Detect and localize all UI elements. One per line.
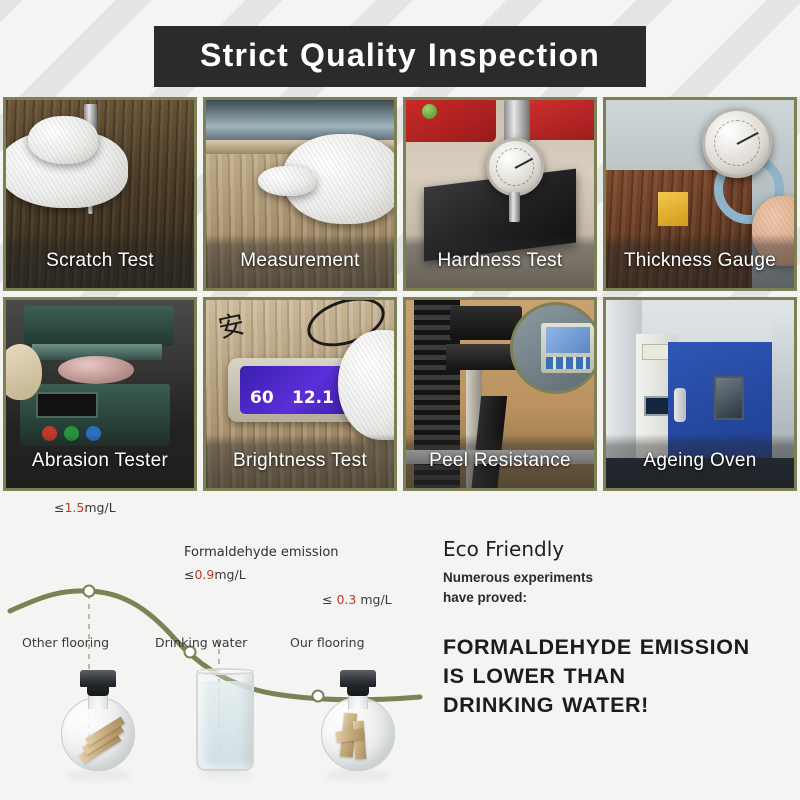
durometer-dial-icon — [486, 138, 544, 196]
headline-2-word-3: THAN — [564, 664, 626, 688]
eco-headline-line-3: DRINKINGWATER! — [443, 691, 793, 720]
abrasion-disc-icon — [58, 356, 134, 384]
eco-headline-line-1: FORMALDEHYDEEMISSION — [443, 633, 793, 662]
vessel-reflection — [66, 769, 130, 784]
data-label-3-value: 0.3 — [336, 592, 356, 607]
eco-headline: FORMALDEHYDEEMISSION ISLOWERTHAN DRINKIN… — [443, 633, 793, 720]
headline-3-word-2: WATER! — [562, 693, 649, 717]
machine-head-icon — [24, 306, 174, 346]
display-icon — [36, 392, 98, 418]
data-label-1: ≤1.5mg/L — [54, 500, 116, 515]
vessel-drinking-water — [186, 671, 266, 771]
data-label-3-prefix: ≤ — [322, 592, 332, 607]
photo-tile-peel-resistance[interactable]: Peel Resistance — [403, 297, 597, 491]
eco-subtitle: Numerous experiments have proved: — [443, 568, 793, 607]
panel-keypad-icon[interactable] — [546, 357, 590, 369]
green-dot-icon — [422, 104, 437, 119]
eco-headline-line-2: ISLOWERTHAN — [443, 662, 793, 691]
vessel-other-flooring — [52, 661, 144, 771]
photo-tile-hardness-test[interactable]: Hardness Test — [403, 97, 597, 291]
page-title: StrictQualityInspection — [154, 26, 646, 87]
inspection-photo-grid: Scratch Test Measurement Hard — [0, 97, 800, 491]
photo-tile-abrasion-tester[interactable]: Abrasion Tester — [3, 297, 197, 491]
photo-tile-thickness-gauge[interactable]: Thickness Gauge — [603, 97, 797, 291]
headline-2-word-2: LOWER — [473, 664, 556, 688]
tile-label-brightness-test: Brightness Test — [206, 434, 394, 488]
data-label-2-prefix: ≤ — [184, 567, 194, 582]
eco-chart-section: ≤1.5mg/L Formaldehyde emission ≤0.9mg/L … — [0, 491, 800, 796]
tile-label-thickness-gauge: Thickness Gauge — [606, 234, 794, 288]
data-label-3-unit: mg/L — [360, 592, 391, 607]
panel-screen-icon — [546, 327, 590, 353]
title-word-1: Strict — [200, 37, 289, 73]
yellow-label-icon — [658, 192, 688, 226]
flask-cap-icon — [340, 670, 376, 687]
category-label-1: Other flooring — [22, 635, 109, 650]
oven-window-icon — [714, 376, 744, 420]
photo-tile-ageing-oven[interactable]: Ageing Oven — [603, 297, 797, 491]
inset-control-panel-photo — [510, 302, 597, 394]
eco-subtitle-line-2: have proved: — [443, 588, 793, 608]
quality-inspection-page: StrictQualityInspection Scratch Test Mea… — [0, 0, 800, 800]
data-label-3: ≤ 0.3 mg/L — [322, 592, 392, 607]
chart-title: Formaldehyde emission — [184, 545, 339, 560]
category-label-2: Drinking water — [155, 635, 247, 650]
category-label-3: Our flooring — [290, 635, 365, 650]
headline-1-word-1: FORMALDEHYDE — [443, 635, 632, 659]
title-word-3: Inspection — [428, 37, 600, 73]
gloved-finger-icon — [258, 166, 316, 196]
red-case-icon — [403, 97, 496, 142]
headline-2-word-1: IS — [443, 664, 465, 688]
tile-label-ageing-oven: Ageing Oven — [606, 434, 794, 488]
data-label-1-prefix: ≤ — [54, 500, 64, 515]
photo-tile-brightness-test[interactable]: 安 60 12.1 Brightness Test — [203, 297, 397, 491]
vessel-reflection — [326, 769, 390, 784]
header: StrictQualityInspection — [0, 0, 800, 97]
meter-value-right: 12.1 — [292, 388, 334, 408]
data-label-2-unit: mg/L — [214, 567, 245, 582]
title-word-2: Quality — [300, 37, 417, 73]
photo-tile-measurement[interactable]: Measurement — [203, 97, 397, 291]
data-label-2-value: 0.9 — [194, 567, 214, 582]
meter-value-left: 60 — [250, 388, 274, 408]
tile-label-hardness-test: Hardness Test — [406, 234, 594, 288]
gloved-fingers-icon — [28, 116, 98, 164]
oven-handle-icon[interactable] — [674, 388, 686, 422]
eco-subtitle-line-1: Numerous experiments — [443, 568, 793, 588]
data-label-1-unit: mg/L — [84, 500, 115, 515]
durometer-shaft-icon — [509, 192, 520, 222]
tile-label-peel-resistance: Peel Resistance — [406, 434, 594, 488]
water-glass-icon — [196, 671, 254, 771]
glass-rim-icon — [196, 668, 254, 675]
eco-title: Eco Friendly — [443, 537, 793, 561]
sample-holder-icon — [3, 344, 42, 400]
tile-label-scratch-test: Scratch Test — [6, 234, 194, 288]
data-point-1[interactable] — [84, 586, 95, 597]
thickness-dial-icon — [702, 108, 772, 178]
data-label-2: ≤0.9mg/L — [184, 567, 246, 582]
tile-label-measurement: Measurement — [206, 234, 394, 288]
vessel-our-flooring — [312, 661, 404, 771]
flask-cap-icon — [80, 670, 116, 687]
gloved-hand-icon — [338, 330, 397, 440]
data-label-1-value: 1.5 — [64, 500, 84, 515]
tile-label-abrasion-tester: Abrasion Tester — [6, 434, 194, 488]
vessel-reflection — [200, 769, 252, 782]
eco-text-block: Eco Friendly Numerous experiments have p… — [443, 537, 793, 720]
photo-tile-scratch-test[interactable]: Scratch Test — [3, 97, 197, 291]
headline-3-word-1: DRINKING — [443, 693, 554, 717]
red-case-right-icon — [524, 97, 597, 140]
marker-scribble-icon: 安 — [214, 304, 247, 346]
headline-1-word-2: EMISSION — [640, 635, 750, 659]
